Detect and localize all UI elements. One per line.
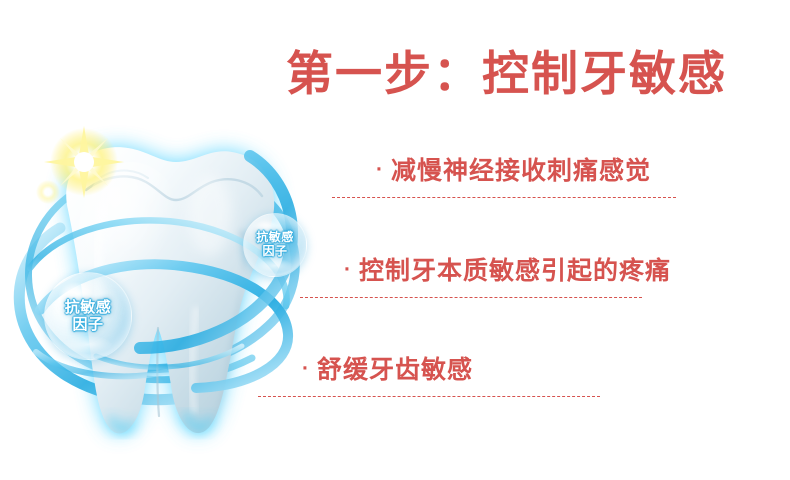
page-title: 第一步：控制牙敏感 <box>286 48 756 101</box>
bullet-label-1: 减慢神经接收刺痛感觉 <box>391 157 651 185</box>
bullet-label-2: 控制牙本质敏感引起的疼痛 <box>359 257 671 285</box>
bullet-marker-1: · <box>376 158 384 181</box>
bullet-divider-2 <box>300 297 642 298</box>
bullet-marker-2: · <box>344 258 352 281</box>
bubble-anti-sensitivity-small: 抗敏感 因子 <box>243 213 307 277</box>
poster-canvas: 抗敏感 因子 抗敏感 因子 第一步：控制牙敏感 ·减慢神经接收刺痛感觉 ·控制牙… <box>0 0 790 480</box>
bubble-large-line2: 因子 <box>72 316 103 333</box>
bullet-line-3: ·舒缓牙齿敏感 <box>302 357 600 385</box>
bullet-line-1: ·减慢神经接收刺痛感觉 <box>376 158 676 186</box>
tooth-illustration <box>0 120 330 460</box>
bullet-block-3: ·舒缓牙齿敏感 <box>302 357 600 397</box>
bubble-anti-sensitivity-large: 抗敏感 因子 <box>44 272 132 360</box>
bullet-line-2: ·控制牙本质敏感引起的疼痛 <box>344 258 671 286</box>
bullet-marker-3: · <box>302 357 310 380</box>
bubble-small-line1: 抗敏感 <box>256 231 294 245</box>
bullet-divider-3 <box>258 396 600 397</box>
bubble-small-line2: 因子 <box>262 245 287 259</box>
bullet-divider-1 <box>332 197 676 198</box>
bullet-label-3: 舒缓牙齿敏感 <box>317 356 473 384</box>
bullet-block-2: ·控制牙本质敏感引起的疼痛 <box>344 258 671 298</box>
bubble-large-line1: 抗敏感 <box>65 299 112 316</box>
bullet-block-1: ·减慢神经接收刺痛感觉 <box>376 158 676 198</box>
